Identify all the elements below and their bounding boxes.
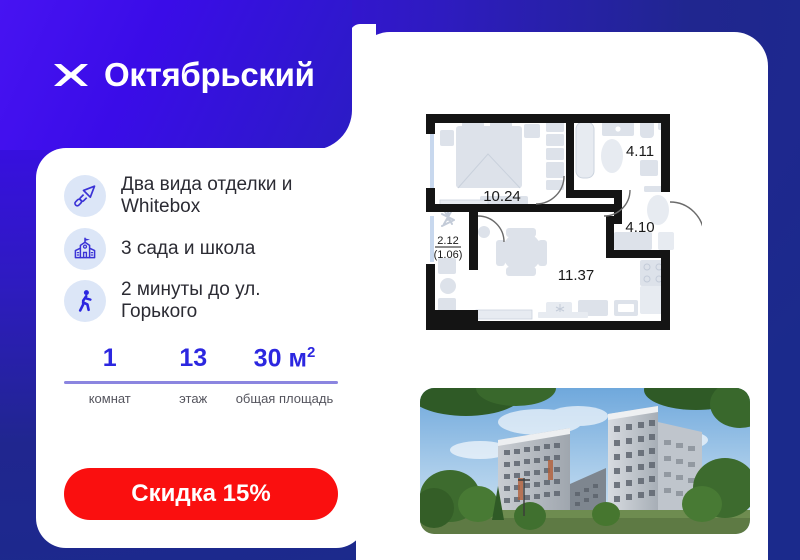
stats-values-row: 1 13 30 м2 <box>64 344 338 373</box>
trowel-icon <box>64 175 106 217</box>
pedestrian-icon <box>64 280 106 322</box>
stat-area-sup: 2 <box>307 344 315 361</box>
area-kitchen-living: 11.37 <box>558 267 594 284</box>
x-mark-icon <box>52 60 90 90</box>
stat-area-number: 30 <box>254 344 282 372</box>
info-card: Два вида отделки и Whitebox 3 сад <box>36 148 366 548</box>
area-balcony-reduced: (1.06) <box>434 249 463 261</box>
stats-block: 1 13 30 м2 комнат этаж общая площадь <box>64 344 338 407</box>
stat-label-rooms: комнат <box>68 391 151 406</box>
stats-divider <box>64 381 338 384</box>
advertisement-card: Октябрьский Два вида отделки и Whitebox <box>0 0 800 560</box>
feature-label: 2 минуты до ул. Горького <box>121 279 338 324</box>
floorplan-drawing: 10.24 4.11 4.10 11.37 2.12 (1.06) <box>418 104 702 340</box>
area-bedroom: 10.24 <box>483 188 521 205</box>
building-photo[interactable] <box>420 388 750 534</box>
area-bathroom: 4.11 <box>626 143 654 160</box>
brand-name: Октябрьский <box>104 56 315 94</box>
feature-item-school: 3 сада и школа <box>64 228 338 270</box>
school-icon <box>64 228 106 270</box>
area-hall: 4.10 <box>625 219 654 236</box>
stats-labels-row: комнат этаж общая площадь <box>64 391 338 406</box>
stat-label-area: общая площадь <box>235 391 334 406</box>
feature-item-walk: 2 минуты до ул. Горького <box>64 279 338 324</box>
building-render <box>420 388 750 534</box>
feature-item-finishing: Два вида отделки и Whitebox <box>64 174 338 219</box>
tower-left <box>498 428 570 514</box>
feature-label: Два вида отделки и Whitebox <box>121 174 338 219</box>
stat-value-rooms: 1 <box>68 344 151 373</box>
brand-banner: Октябрьский <box>0 0 352 150</box>
discount-button[interactable]: Скидка 15% <box>64 468 338 520</box>
area-balcony: 2.12 <box>437 235 458 247</box>
stat-area-unit: м <box>288 344 307 372</box>
feature-list: Два вида отделки и Whitebox 3 сад <box>64 174 338 324</box>
feature-label: 3 сада и школа <box>121 238 255 260</box>
stat-label-floor: этаж <box>151 391 234 406</box>
floorplan[interactable]: 10.24 4.11 4.10 11.37 2.12 (1.06) <box>418 104 702 340</box>
stat-value-area: 30 м2 <box>235 344 334 373</box>
stat-value-floor: 13 <box>151 344 234 373</box>
